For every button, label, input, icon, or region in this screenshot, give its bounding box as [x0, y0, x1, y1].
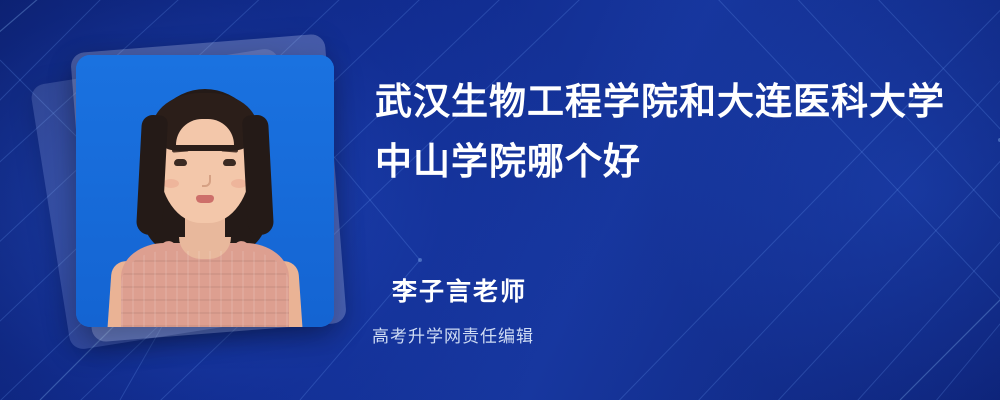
- author-role: 高考升学网责任编辑: [372, 322, 534, 347]
- author-photo-card: [76, 55, 334, 327]
- author-block: 李子言老师 高考升学网责任编辑: [392, 272, 534, 347]
- portrait-hair-side-right: [242, 114, 274, 235]
- portrait-mouth: [196, 195, 214, 203]
- article-cover-banner: 武汉生物工程学院和大连医科大学 中山学院哪个好 李子言老师 高考升学网责任编辑: [0, 0, 1000, 400]
- portrait-eye-right: [223, 159, 236, 166]
- author-portrait-illustration: [76, 55, 334, 327]
- headline-line-1: 武汉生物工程学院和大连医科大学: [375, 72, 975, 132]
- portrait-blush-left: [163, 179, 179, 188]
- author-name: 李子言老师: [392, 272, 534, 308]
- headline-block: 武汉生物工程学院和大连医科大学 中山学院哪个好: [375, 72, 975, 192]
- photo-card-stack: [45, 25, 375, 375]
- headline-line-2: 中山学院哪个好: [375, 132, 975, 192]
- portrait-eye-left: [174, 159, 187, 166]
- portrait-dress-texture: [121, 251, 289, 327]
